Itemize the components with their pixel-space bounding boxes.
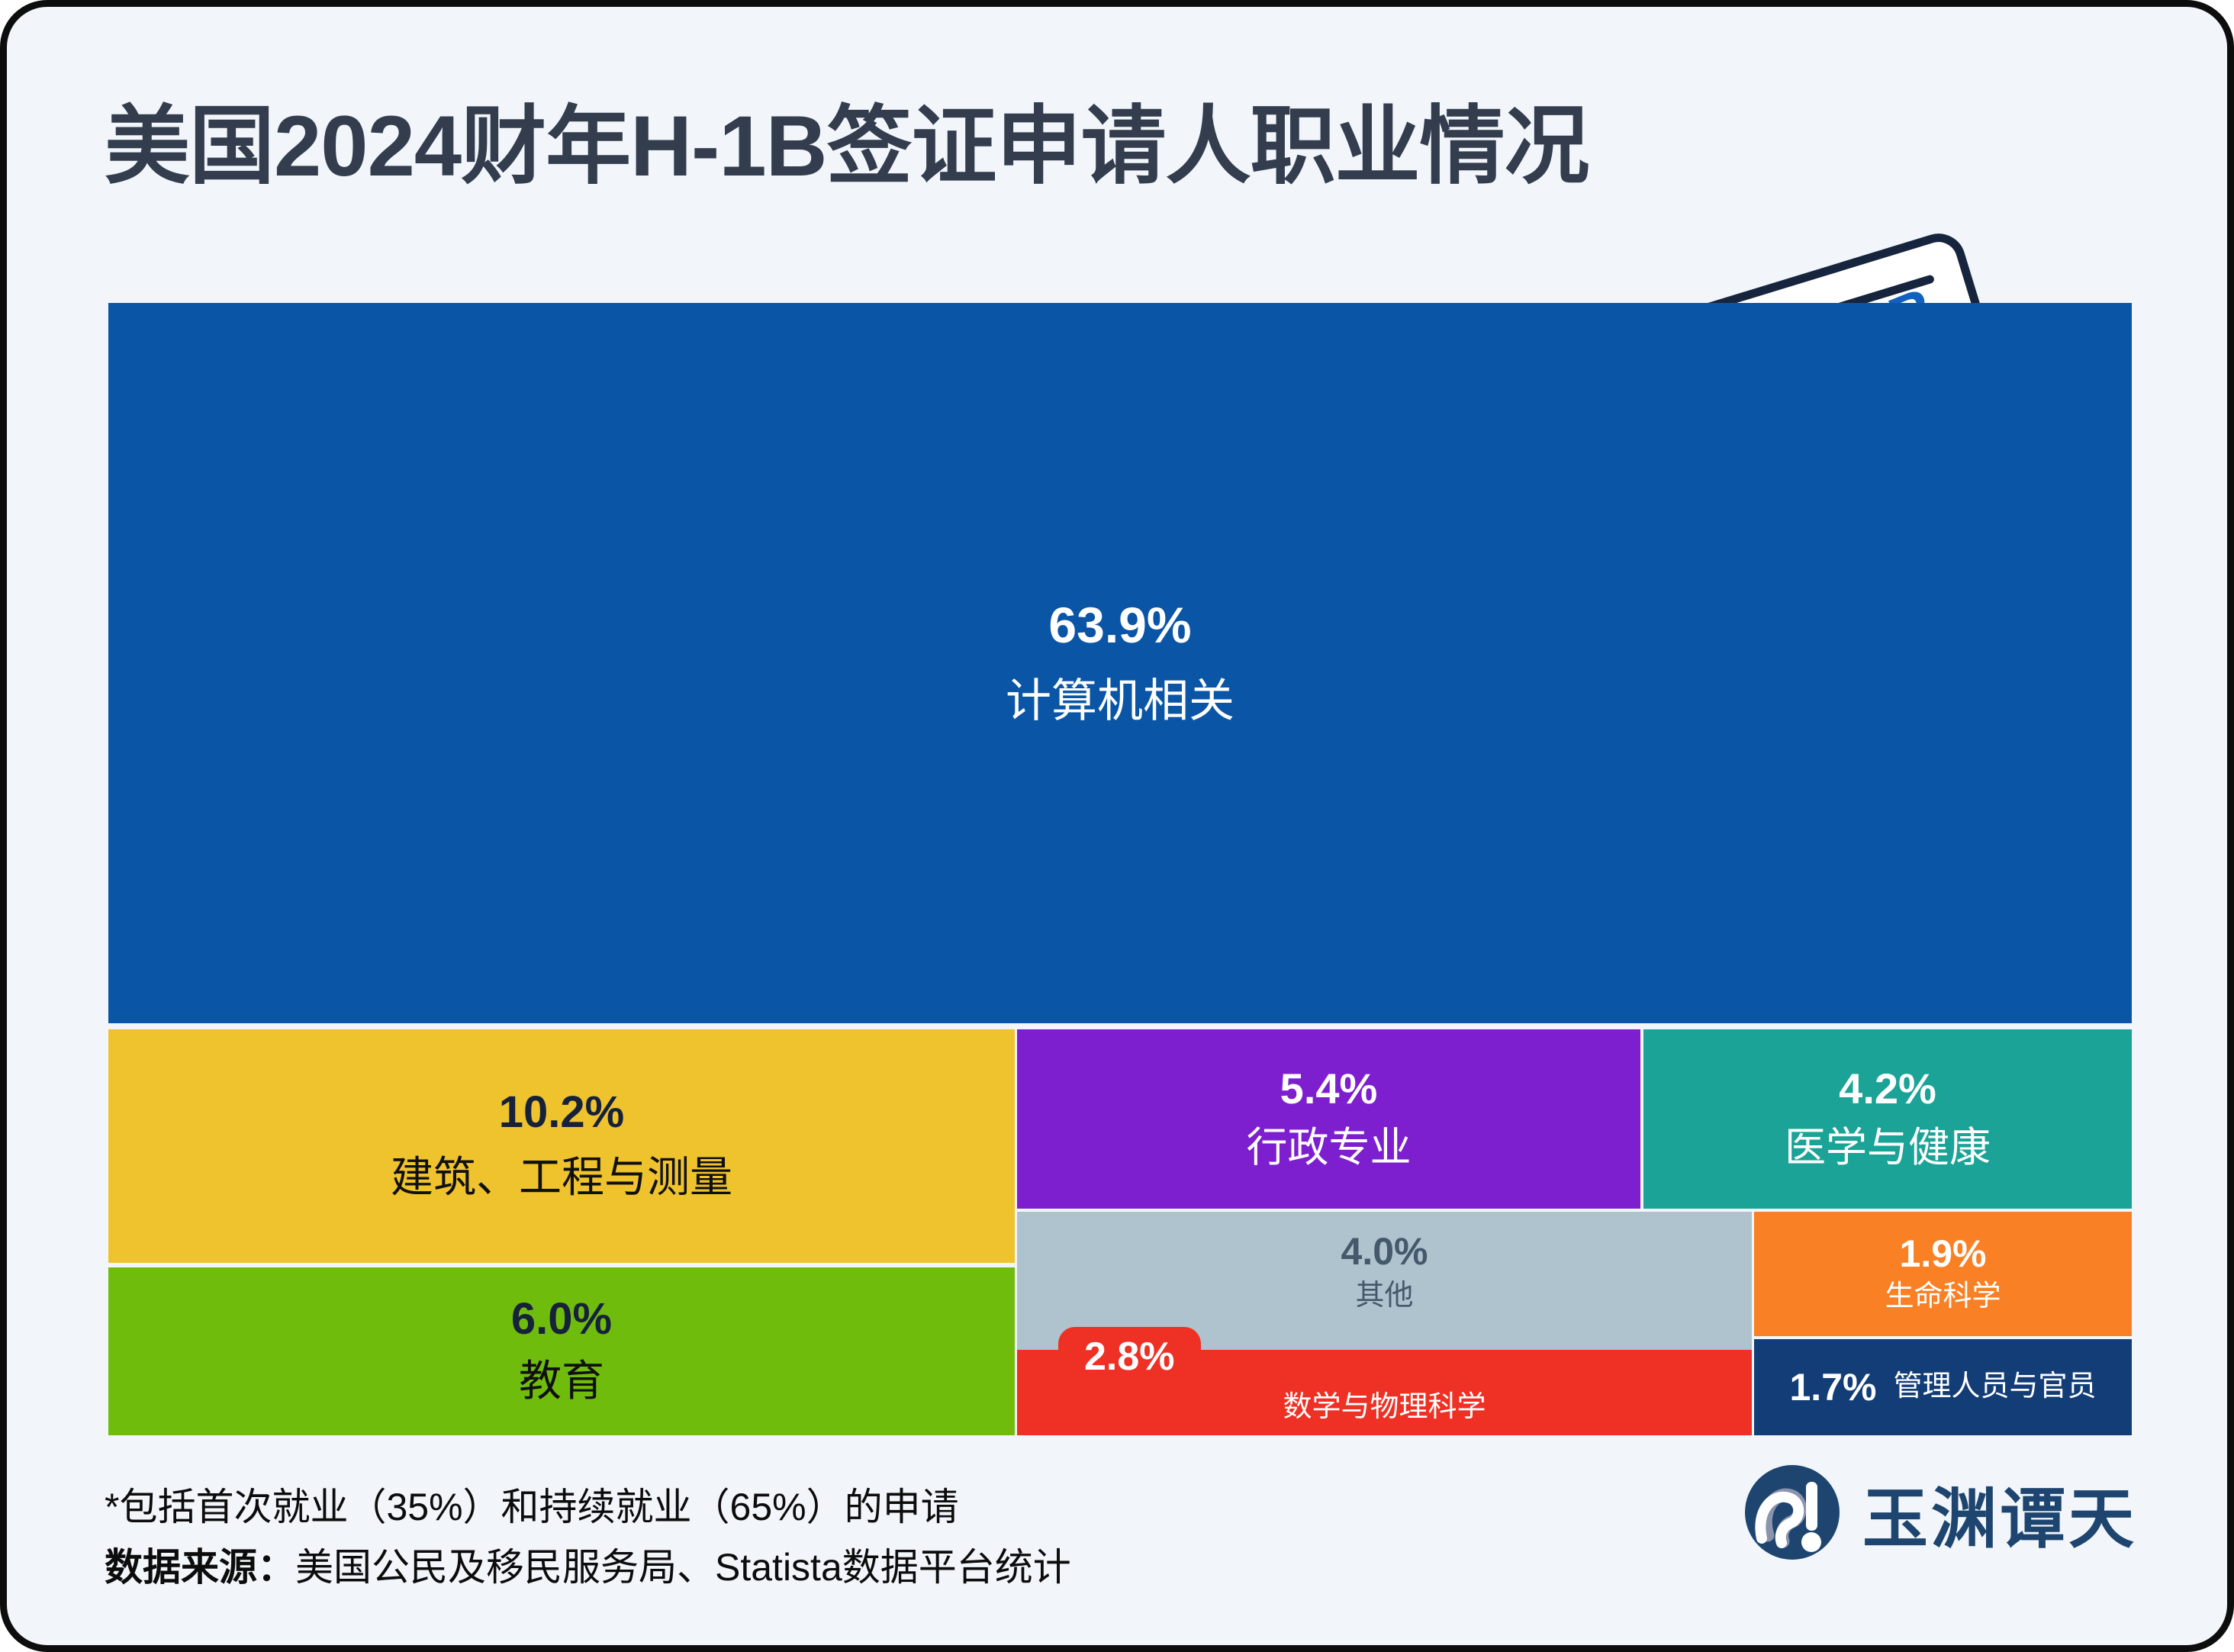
segment-label: 管理人员与官员 (1893, 1370, 2096, 1404)
page-title: 美国2024财年H-1B签证申请人职业情况 (105, 77, 1589, 201)
footnote-source-label: 数据来源： (105, 1546, 295, 1589)
segment-label: 行政专业 (1247, 1124, 1412, 1171)
treemap-segment-lifescience[interactable]: 1.9% 生命科学 (1754, 1212, 2132, 1336)
segment-percent: 6.0% (511, 1296, 612, 1343)
segment-percent: 63.9% (1048, 599, 1191, 652)
logo-emblem-icon (1742, 1462, 1843, 1563)
logo-text: 玉渊谭天 (1862, 1465, 2137, 1560)
segment-percent: 1.7% (1790, 1367, 1877, 1408)
segment-label: 其他 (1355, 1280, 1413, 1313)
segment-label: 医学与健康 (1785, 1124, 1991, 1171)
footnote-source-value: 美国公民及移民服务局、Statista数据平台统计 (295, 1546, 1071, 1589)
segment-percent: 4.0% (1341, 1232, 1428, 1272)
occupation-treemap: 63.9% 计算机相关 10.2% 建筑、工程与测量 6.0% 教育 5.4% … (108, 303, 2132, 1435)
treemap-segment-managers[interactable]: 1.7% 管理人员与官员 (1754, 1339, 2132, 1435)
segment-label: 计算机相关 (1006, 675, 1234, 727)
treemap-segment-administrative[interactable]: 5.4% 行政专业 (1017, 1029, 1640, 1209)
treemap-segment-architecture[interactable]: 10.2% 建筑、工程与测量 (108, 1029, 1015, 1263)
footnote-source: 数据来源：美国公民及移民服务局、Statista数据平台统计 (105, 1540, 1071, 1596)
segment-label: 教育 (519, 1357, 604, 1406)
segment-label: 建筑、工程与测量 (391, 1153, 732, 1202)
segment-percent: 2.8% (1058, 1327, 1201, 1383)
segment-label: 生命科学 (1885, 1280, 2001, 1314)
brand-logo: 玉渊谭天 (1742, 1462, 2137, 1563)
segment-percent: 1.9% (1900, 1234, 1987, 1274)
footnotes: *包括首次就业（35%）和持续就业（65%）的申请 数据来源：美国公民及移民服务… (105, 1480, 1071, 1595)
segment-label: 数学与物理科学 (1283, 1391, 1486, 1425)
treemap-segment-computer[interactable]: 63.9% 计算机相关 (108, 303, 2132, 1023)
segment-percent: 5.4% (1280, 1067, 1378, 1112)
treemap-segment-medical[interactable]: 4.2% 医学与健康 (1643, 1029, 2132, 1209)
treemap-segment-education[interactable]: 6.0% 教育 (108, 1267, 1015, 1435)
segment-percent: 10.2% (499, 1090, 624, 1136)
footnote-scope: *包括首次就业（35%）和持续就业（65%）的申请 (105, 1480, 1071, 1535)
segment-percent: 4.2% (1839, 1067, 1936, 1112)
infographic-canvas: 美国2024财年H-1B签证申请人职业情况 H-1B 63.9% (0, 0, 2234, 1652)
treemap-segment-math[interactable]: 2.8% 数学与物理科学 (1017, 1350, 1752, 1435)
